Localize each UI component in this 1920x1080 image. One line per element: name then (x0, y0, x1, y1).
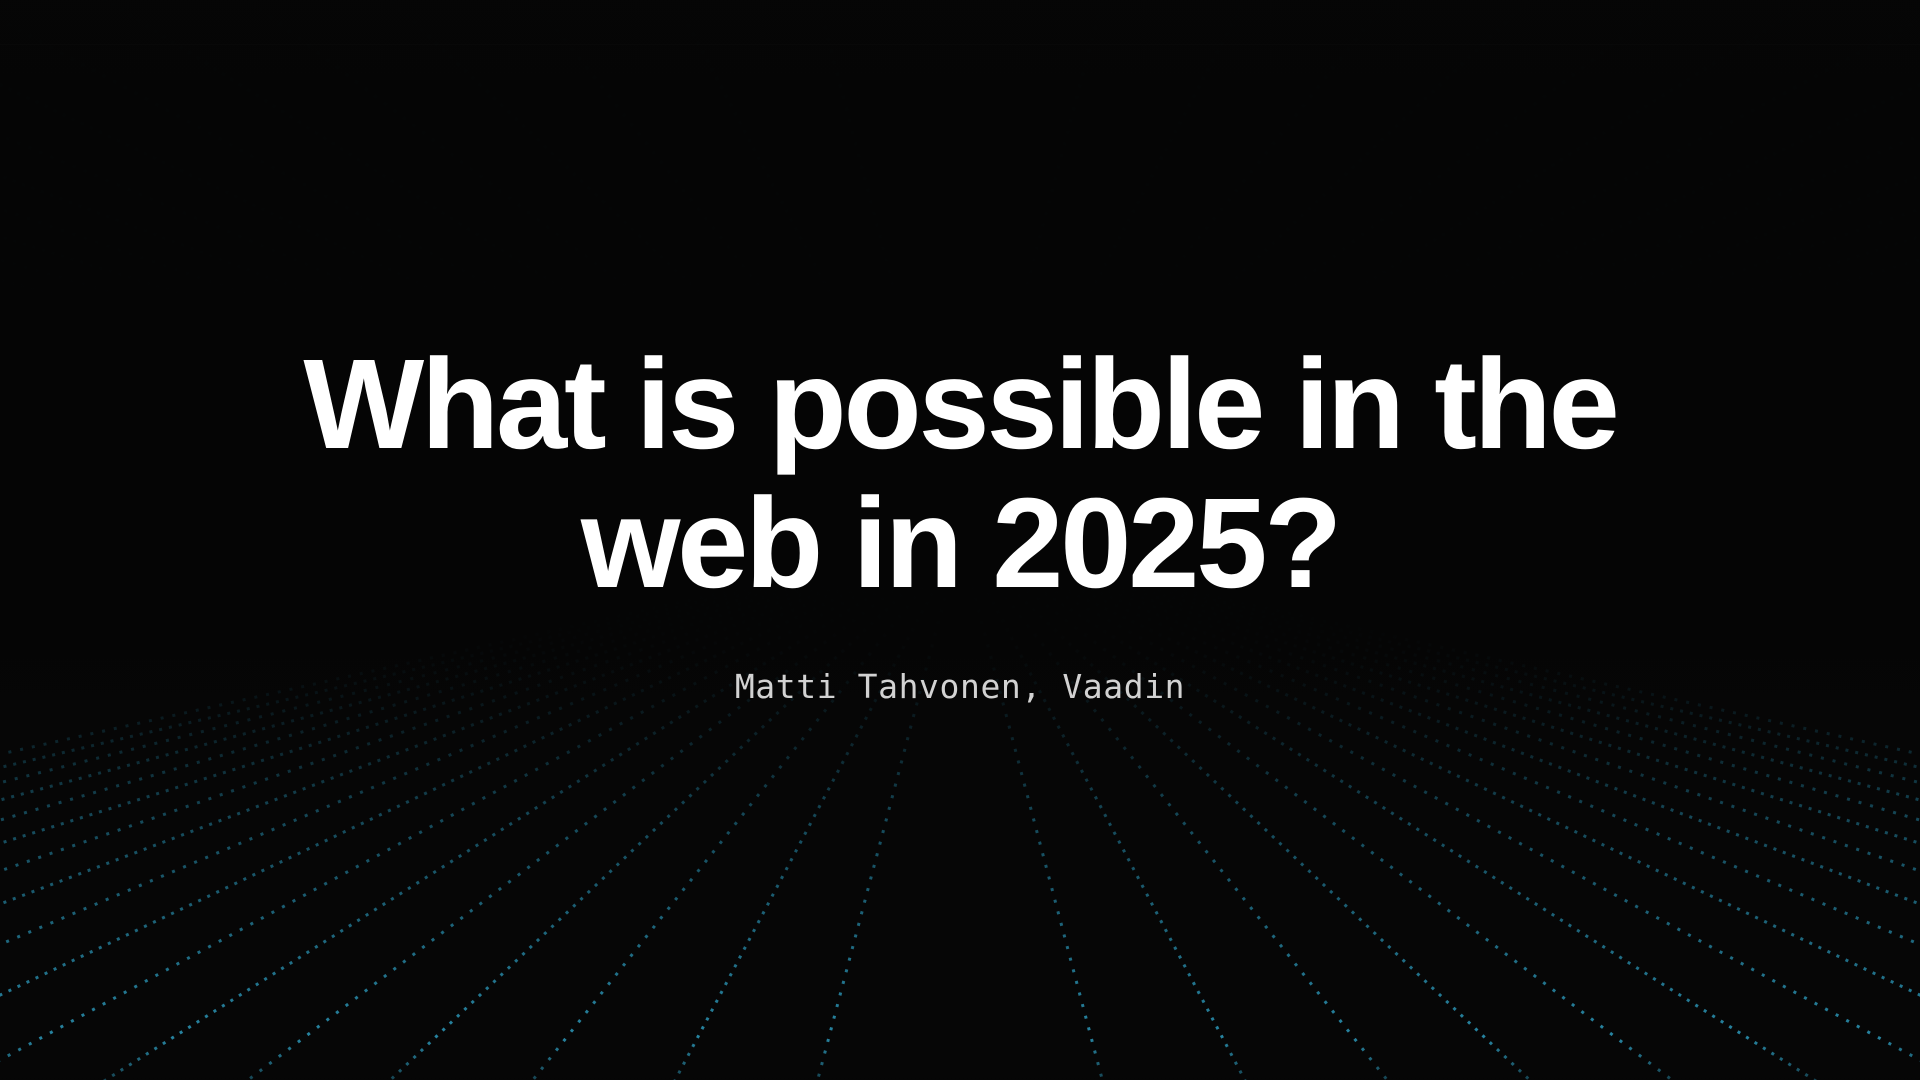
title-slide: What is possible in the web in 2025? Mat… (0, 0, 1920, 1080)
page-title: What is possible in the web in 2025? (235, 336, 1685, 612)
slide-content: What is possible in the web in 2025? Mat… (0, 0, 1920, 1080)
slide-subtitle-speaker: Matti Tahvonen, Vaadin (735, 667, 1185, 706)
